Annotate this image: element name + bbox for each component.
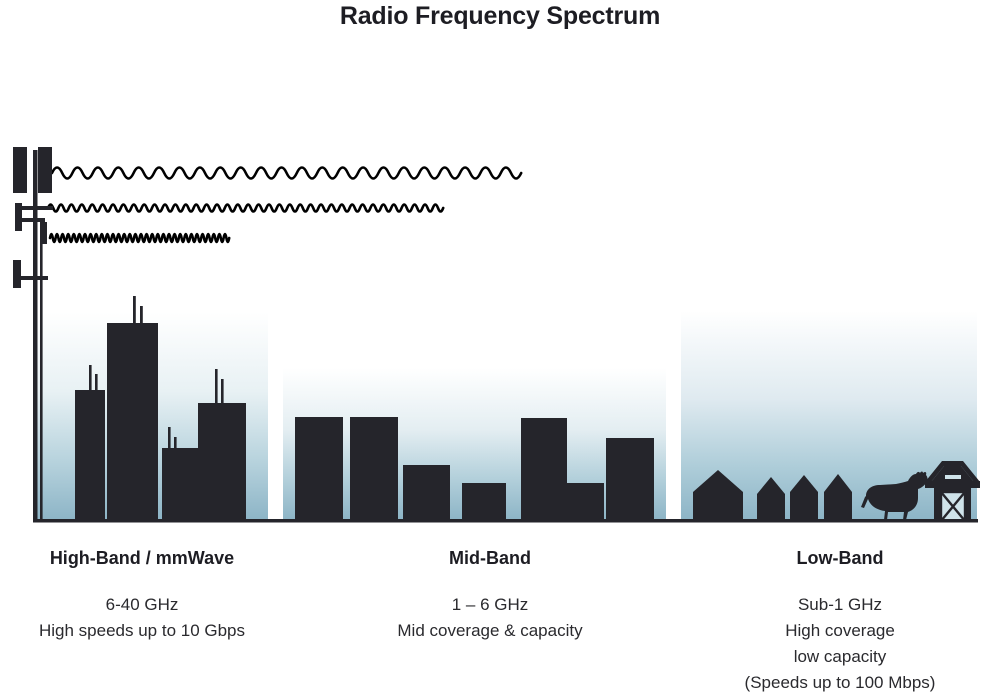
high-frequency-wave — [50, 234, 229, 242]
rf-spectrum-infographic: Radio Frequency Spectrum — [0, 0, 1000, 700]
city-building — [162, 448, 199, 521]
band-detail-low-band-1: low capacity — [698, 644, 982, 670]
antenna-panel-mid — [15, 203, 22, 231]
antenna-panel-mid-right — [41, 222, 47, 244]
band-label-mid-band: Mid-Band — [348, 548, 632, 569]
city-building — [75, 390, 105, 521]
band-description-low-band: Sub-1 GHz High coverage low capacity (Sp… — [698, 592, 982, 696]
band-frequency-mid-band: 1 – 6 GHz — [348, 592, 632, 618]
mid-building — [295, 417, 343, 521]
low-frequency-wave — [52, 168, 521, 179]
mid-building — [403, 465, 450, 521]
band-detail-low-band-0: High coverage — [698, 618, 982, 644]
antenna-panel-bottom — [13, 260, 21, 288]
building-spire — [221, 379, 224, 407]
mid-building — [350, 417, 398, 521]
page-title: Radio Frequency Spectrum — [0, 2, 1000, 31]
building-spire — [168, 427, 171, 451]
band-detail-low-band-2: (Speeds up to 100 Mbps) — [698, 670, 982, 696]
band-frequency-low-band: Sub-1 GHz — [698, 592, 982, 618]
tower-mast-secondary — [40, 222, 43, 522]
city-building — [198, 403, 246, 521]
building-spire — [215, 369, 218, 407]
barn-window — [945, 475, 961, 479]
band-detail-mid-band-0: Mid coverage & capacity — [348, 618, 632, 644]
city-building — [107, 323, 158, 521]
wave-group — [48, 168, 521, 243]
antenna-panel-top-right — [38, 147, 52, 193]
band-label-low-band: Low-Band — [698, 548, 982, 569]
mid-building — [462, 483, 506, 521]
ground-line — [33, 519, 978, 523]
mid-building — [521, 418, 567, 521]
band-frequency-high-band: 6-40 GHz — [0, 592, 284, 618]
band-label-high-band: High-Band / mmWave — [0, 548, 284, 569]
antenna-panel-top-left — [13, 147, 27, 193]
building-spire — [133, 296, 136, 326]
mid-building — [606, 438, 654, 521]
tower-mast — [33, 150, 38, 522]
band-detail-high-band-0: High speeds up to 10 Gbps — [0, 618, 284, 644]
mid-frequency-wave — [48, 205, 443, 212]
mid-building — [567, 483, 604, 521]
band-description-mid-band: 1 – 6 GHz Mid coverage & capacity — [348, 592, 632, 644]
building-spire — [89, 365, 92, 393]
band-description-high-band: 6-40 GHz High speeds up to 10 Gbps — [0, 592, 284, 644]
